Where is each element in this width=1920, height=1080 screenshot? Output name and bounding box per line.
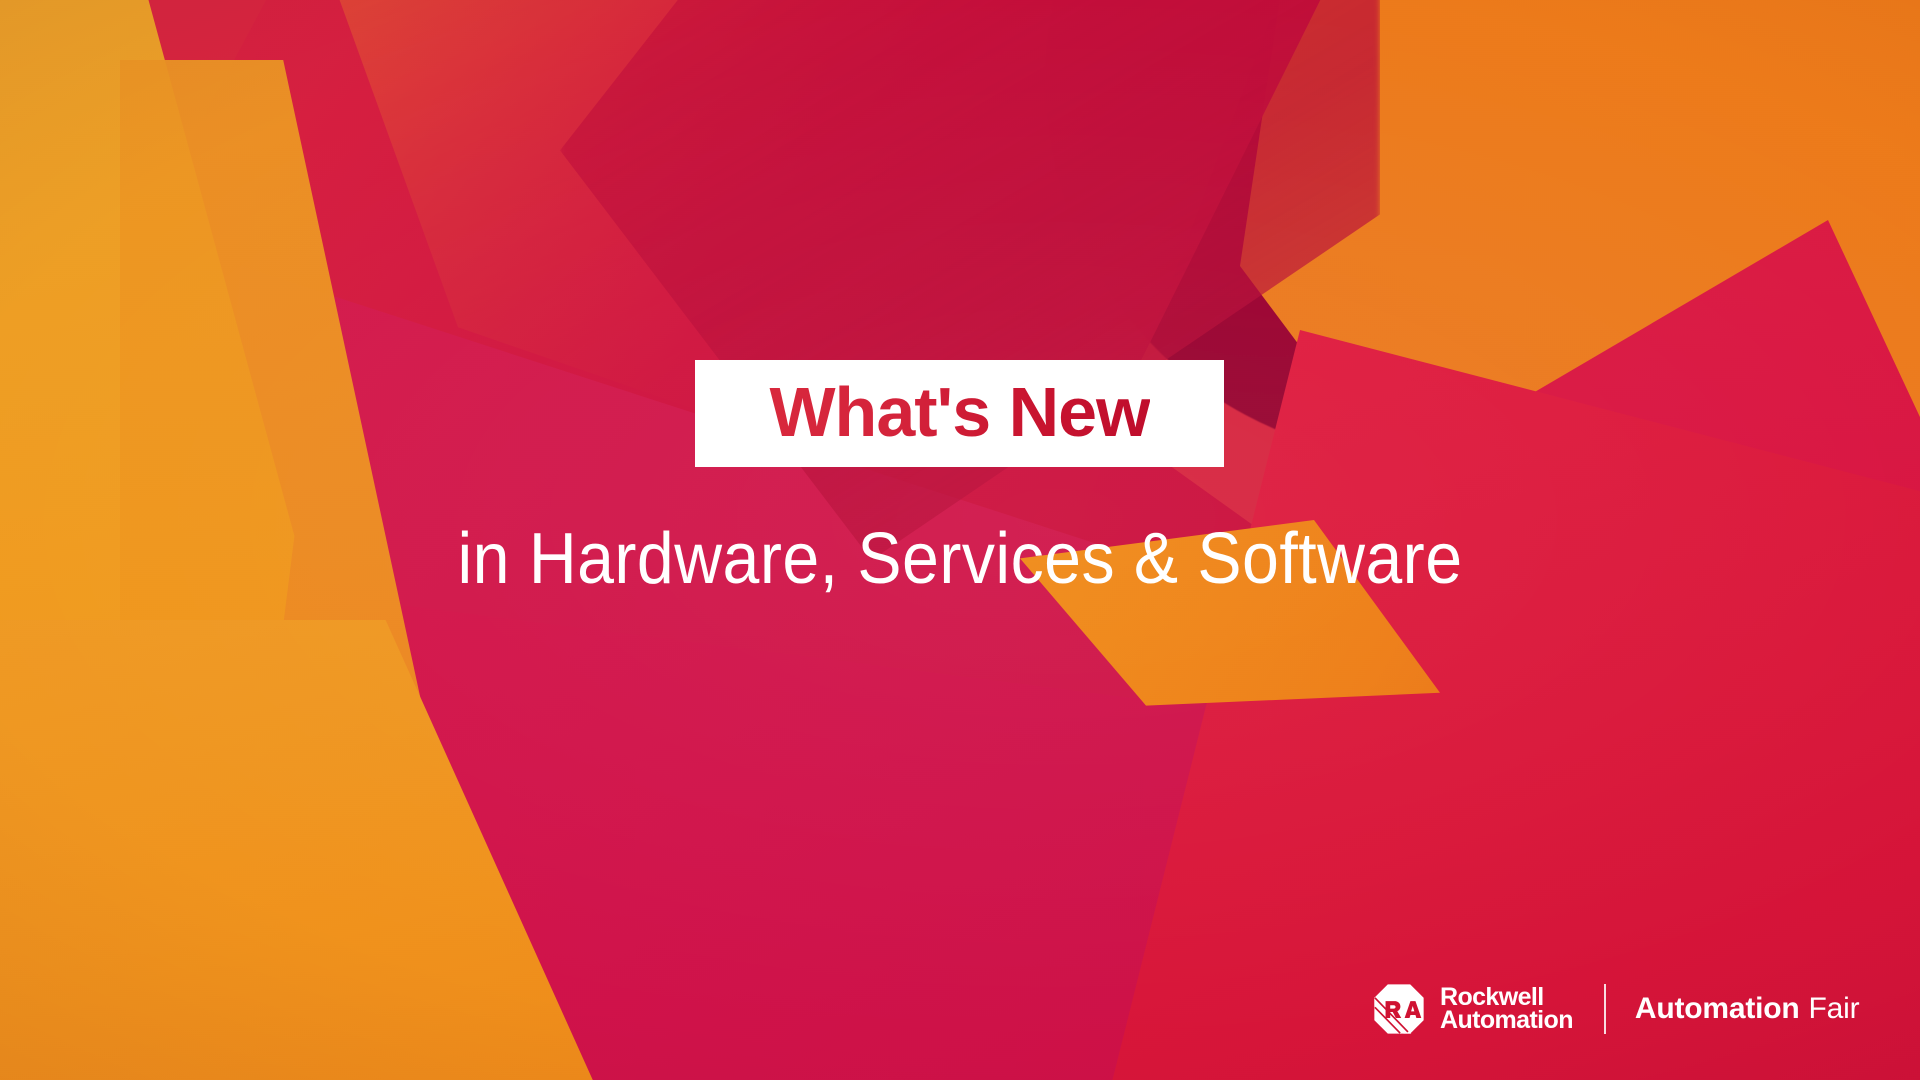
- wordmark-line-2: Automation: [1440, 1009, 1573, 1033]
- automation-fair-bold: Automation: [1635, 992, 1800, 1025]
- slide-subtitle: in Hardware, Services & Software: [77, 520, 1843, 599]
- presentation-slide: What's New in Hardware, Services & Softw…: [0, 0, 1920, 1080]
- slide-content: What's New in Hardware, Services & Softw…: [0, 0, 1920, 1080]
- logo-lockup: Rockwell Automation AutomationFair: [1371, 979, 1859, 1039]
- automation-fair-light: Fair: [1809, 992, 1860, 1025]
- rockwell-automation-octagon-icon: [1371, 981, 1427, 1037]
- automation-fair-mark: AutomationFair: [1635, 994, 1860, 1024]
- rockwell-automation-wordmark: Rockwell Automation: [1440, 986, 1573, 1033]
- slide-title: What's New: [769, 377, 1149, 451]
- lockup-divider: [1604, 984, 1606, 1034]
- title-plate: What's New: [695, 360, 1224, 467]
